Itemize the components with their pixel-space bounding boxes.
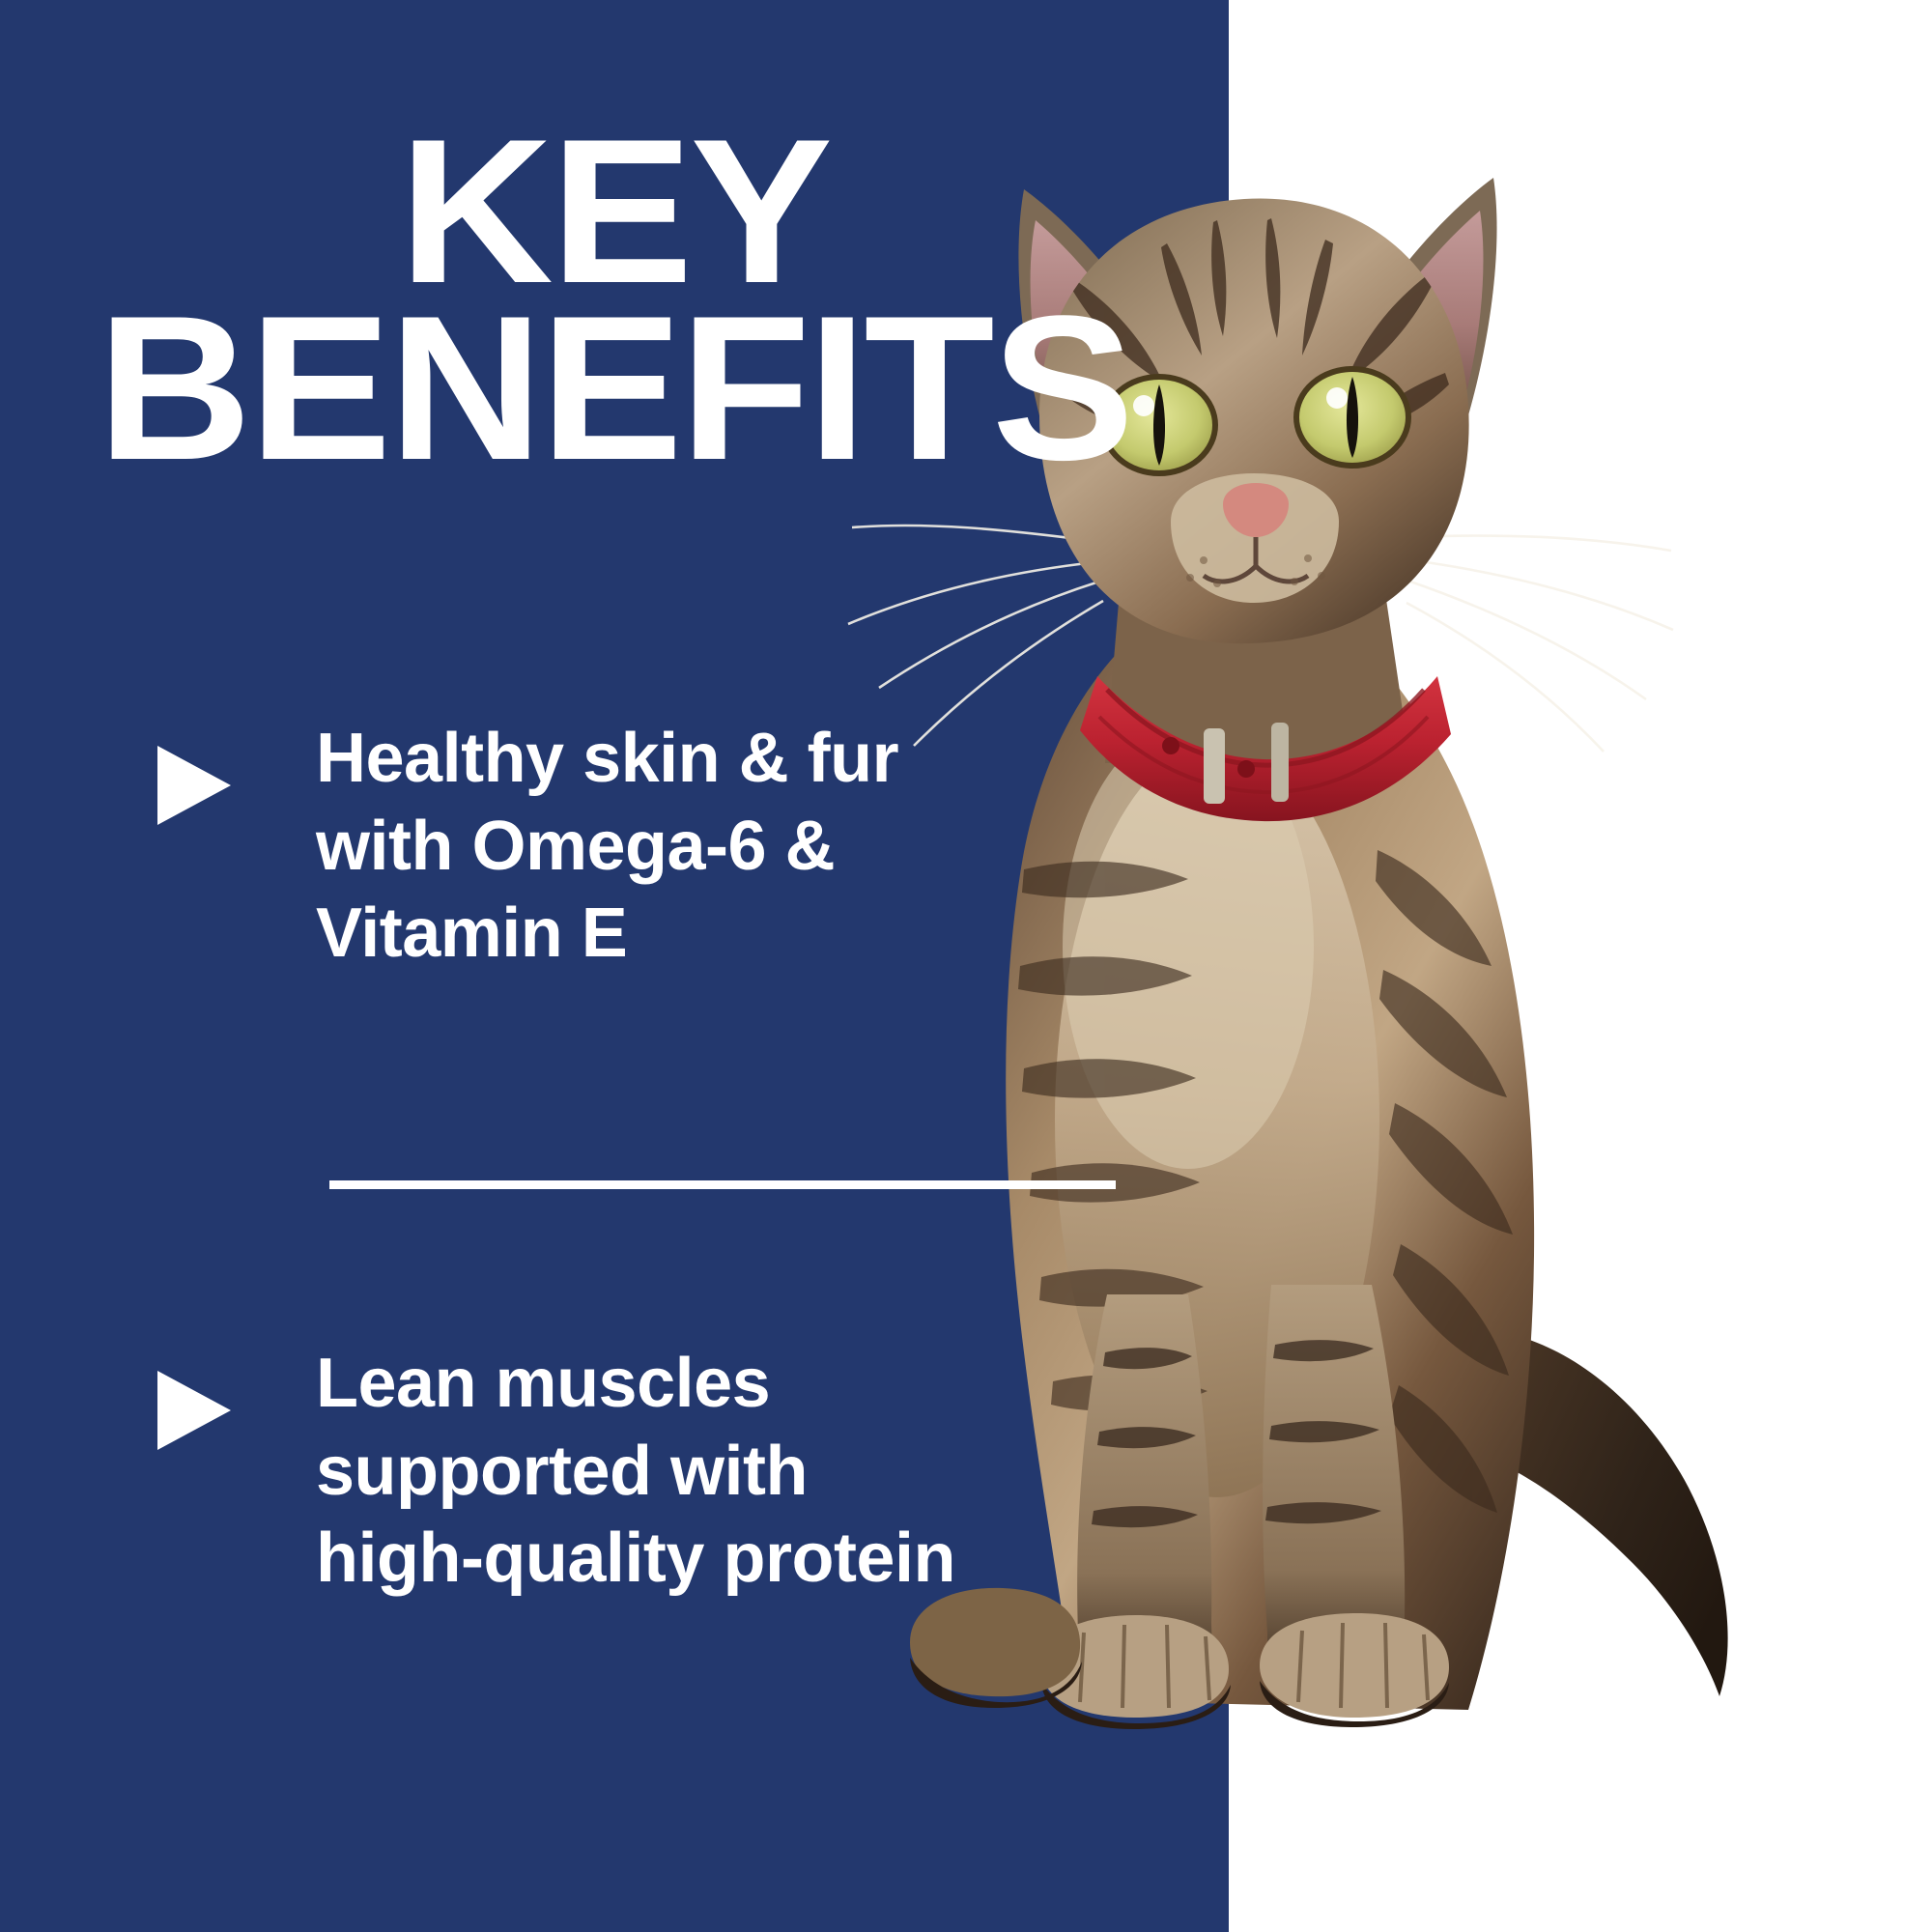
benefit-2-line-1: Lean muscles	[316, 1340, 955, 1428]
benefit-2-line-2: supported with	[316, 1428, 955, 1516]
benefit-1-line-1: Healthy skin & fur	[316, 715, 898, 803]
page-title: KEY BENEFITS	[0, 124, 1229, 477]
benefit-2-line-3: high-quality protein	[316, 1515, 955, 1603]
benefit-1-line-2: with Omega-6 &	[316, 803, 898, 891]
whiskers-right	[1406, 536, 1673, 752]
cat-ear-right-inner	[1360, 211, 1483, 400]
benefit-row: Healthy skin & fur with Omega-6 & Vitami…	[0, 715, 1229, 978]
benefit-1-line-3: Vitamin E	[316, 890, 898, 978]
divider	[329, 1180, 1116, 1189]
benefit-text-2: Lean muscles supported with high-quality…	[316, 1340, 955, 1603]
benefit-row: Lean muscles supported with high-quality…	[0, 1340, 1229, 1603]
cat-eye-right	[1296, 369, 1408, 466]
benefit-item-2: Lean muscles supported with high-quality…	[0, 1340, 1229, 1603]
cat-ear-right	[1343, 178, 1497, 415]
triangle-right-icon	[157, 1371, 231, 1450]
key-benefits-poster: KEY BENEFITS Healthy skin & fur with Ome…	[0, 0, 1932, 1932]
cat-front-leg-right	[1263, 1285, 1410, 1692]
divider-wrap	[0, 1180, 1229, 1189]
triangle-right-icon	[157, 746, 231, 825]
benefit-item-1: Healthy skin & fur with Omega-6 & Vitami…	[0, 715, 1229, 978]
cat-tail	[1493, 1333, 1728, 1696]
headline-line-2: BENEFITS	[0, 300, 1253, 477]
cat-nose	[1223, 483, 1289, 537]
benefit-text-1: Healthy skin & fur with Omega-6 & Vitami…	[316, 715, 898, 978]
